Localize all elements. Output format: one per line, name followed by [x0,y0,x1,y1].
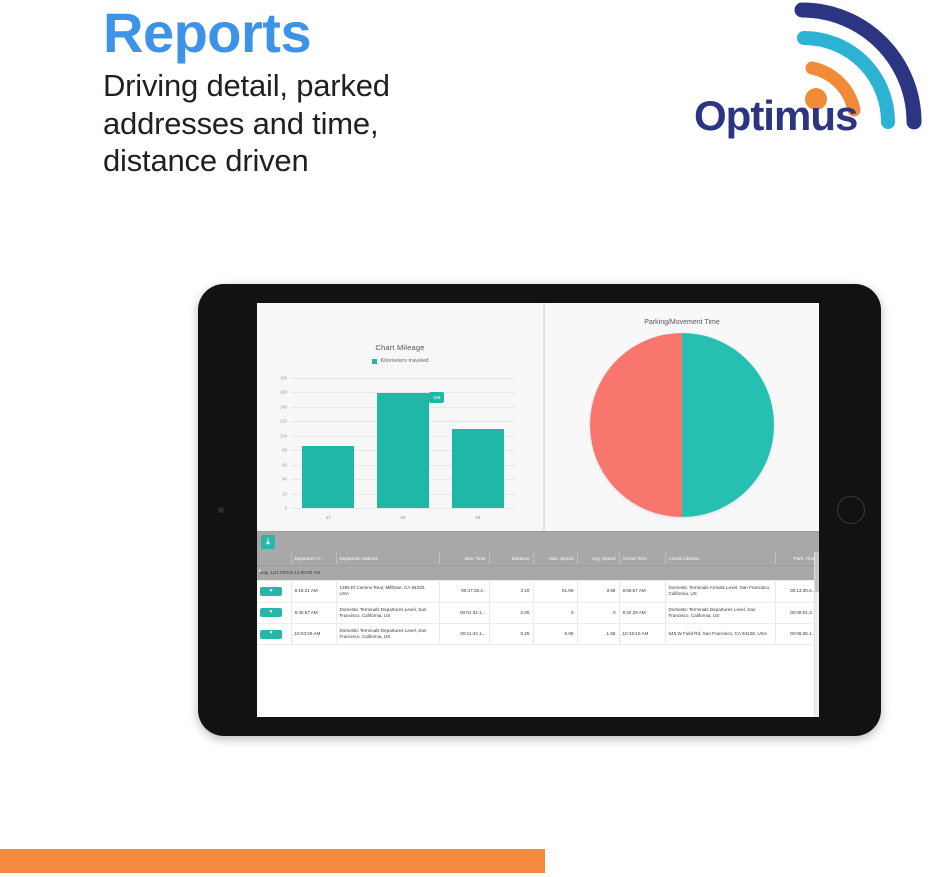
logo-wordmark: Optimus [694,95,932,137]
bottom-accent-bar [0,849,545,873]
cell-arrival-time: 10:15:10 AM [619,623,665,644]
pie-chart-title: Parking/Movement Time [545,319,819,326]
subtitle-line-2: addresses and time, [103,105,623,143]
tablet-screen: Chart Mileage Kilometers traveled 180 16… [257,303,819,717]
table-row[interactable]: ▾ 10:03:26 AM Domestic Terminals Departu… [257,623,819,644]
bar-chart-legend: Kilometers traveled [257,358,543,364]
cell-arrival-time: 9:32:29 AM [619,602,665,623]
col-header-max-speed[interactable]: Max. Speed [533,552,577,566]
cell-max-speed: 0 [533,602,577,623]
x-tick: 18 [400,515,405,520]
cell-departure-address: Domestic Terminals Departures Level, San… [336,623,439,644]
cell-max-speed: 5.65 [533,623,577,644]
map-pin-icon[interactable]: ▾ [260,630,282,639]
y-tick: 80 [282,448,287,453]
export-icon[interactable]: ⤓ [261,535,275,549]
charts-panel: Chart Mileage Kilometers traveled 180 16… [257,303,819,531]
bar-chart: Chart Mileage Kilometers traveled 180 16… [257,303,543,531]
y-tick: 20 [282,491,287,496]
report-toolbar: ⤓ [257,531,819,552]
y-tick: 60 [282,462,287,467]
cell-departure-time: 10:03:26 AM [291,623,336,644]
bar-rect[interactable] [302,446,354,508]
cell-arrival-address: Domestic Terminals Arrivals Level, San F… [665,581,775,602]
y-tick: 0 [285,506,287,511]
row-pin-cell[interactable]: ▾ [257,581,291,602]
report-table-container: Departure Ti.. Departure Address Mov. Ti… [257,552,819,717]
cell-mov-time: 00:01:32.1... [439,602,489,623]
col-header-pin[interactable] [257,552,291,566]
front-camera-icon [218,507,224,513]
subtitle-line-3: distance driven [103,142,623,180]
bar-item[interactable]: 159 18 [377,393,429,508]
row-pin-cell[interactable]: ▾ [257,602,291,623]
y-tick: 100 [280,433,287,438]
y-tick: 160 [280,390,287,395]
map-pin-icon[interactable]: ▾ [260,587,282,596]
bar-item[interactable]: 19 [452,429,504,508]
cell-mov-time: 00:11:44.1... [439,623,489,644]
cell-departure-address: Domestic Terminals Departures Level, San… [336,602,439,623]
legend-swatch-icon [372,359,377,364]
report-table: Departure Ti.. Departure Address Mov. Ti… [257,552,819,645]
y-tick: 180 [280,376,287,381]
legend-label: Kilometers traveled [381,358,429,364]
x-tick: 19 [475,515,480,520]
col-header-mov-time[interactable]: Mov. Time [439,552,489,566]
pie-chart: Parking/Movement Time [545,303,819,531]
bar-rect[interactable] [452,429,504,508]
page-subtitle: Driving detail, parked addresses and tim… [103,67,623,180]
table-header-row: Departure Ti.. Departure Address Mov. Ti… [257,552,819,566]
cell-distance: 0.05 [489,602,533,623]
row-pin-cell[interactable]: ▾ [257,623,291,644]
col-header-park-time[interactable]: Park. Time [775,552,819,566]
bar-chart-plot: 180 160 140 120 100 80 60 40 20 0 [291,378,515,508]
cell-arrival-time: 9:06:57 AM [619,581,665,602]
x-tick: 17 [326,515,331,520]
home-button[interactable] [837,496,865,524]
col-header-departure-address[interactable]: Departure Address [336,552,439,566]
map-pin-icon[interactable]: ▾ [260,608,282,617]
cell-arrival-address: Domestic Terminals Departures Level, San… [665,602,775,623]
cell-departure-address: 1395 El Camino Real, Millbrae, CA 94030,… [336,581,439,602]
cell-park-time: 00:13:30.6... [775,581,819,602]
cell-departure-time: 8:19:21 AM [291,581,336,602]
bar-rect[interactable]: 159 [377,393,429,508]
cell-max-speed: 51.08 [533,581,577,602]
bar-item[interactable]: 17 [302,446,354,508]
bar-value-label: 159 [429,392,444,403]
col-header-avg-speed[interactable]: Avg. Speed [577,552,619,566]
y-tick: 40 [282,477,287,482]
col-header-arrival-address[interactable]: Arrival Address [665,552,775,566]
cell-avg-speed: 0 [577,602,619,623]
subtitle-line-1: Driving detail, parked [103,67,623,105]
y-tick: 140 [280,404,287,409]
poster-canvas: Reports Driving detail, parked addresses… [0,0,932,877]
cell-park-time: 00:08:01.3... [775,602,819,623]
col-header-departure-time[interactable]: Departure Ti.. [291,552,336,566]
cell-distance: 3.10 [489,581,533,602]
cell-mov-time: 00:47:36.2.. [439,581,489,602]
bar-chart-title: Chart Mileage [257,343,543,352]
pie-graphic[interactable] [590,333,774,517]
cell-arrival-address: 645 W Field Rd, San Francisco, CA 94128,… [665,623,775,644]
tablet-device: Chart Mileage Kilometers traveled 180 16… [198,284,881,736]
brand-logo: Optimus [694,2,932,144]
cell-departure-time: 9:30:57 AM [291,602,336,623]
cell-distance: 0.25 [489,623,533,644]
table-row[interactable]: ▾ 9:30:57 AM Domestic Terminals Departur… [257,602,819,623]
header-block: Reports Driving detail, parked addresses… [103,4,623,180]
table-scrollbar-thumb[interactable] [815,552,819,592]
col-header-distance[interactable]: Distance [489,552,533,566]
y-tick: 120 [280,419,287,424]
table-row[interactable]: ▾ 8:19:21 AM 1395 El Camino Real, Millbr… [257,581,819,602]
cell-avg-speed: 1.55 [577,623,619,644]
cell-avg-speed: 3.68 [577,581,619,602]
bar-series: 17 159 18 19 [291,378,515,508]
col-header-arrival-time[interactable]: Arrival Time [619,552,665,566]
table-scrollbar[interactable] [814,552,819,717]
group-row-label: Day, 11/17/2015 12:00:00 AM [257,566,819,581]
table-group-row[interactable]: Day, 11/17/2015 12:00:00 AM [257,566,819,581]
cell-park-time: 00:08:36.1... [775,623,819,644]
page-title: Reports [103,4,623,63]
